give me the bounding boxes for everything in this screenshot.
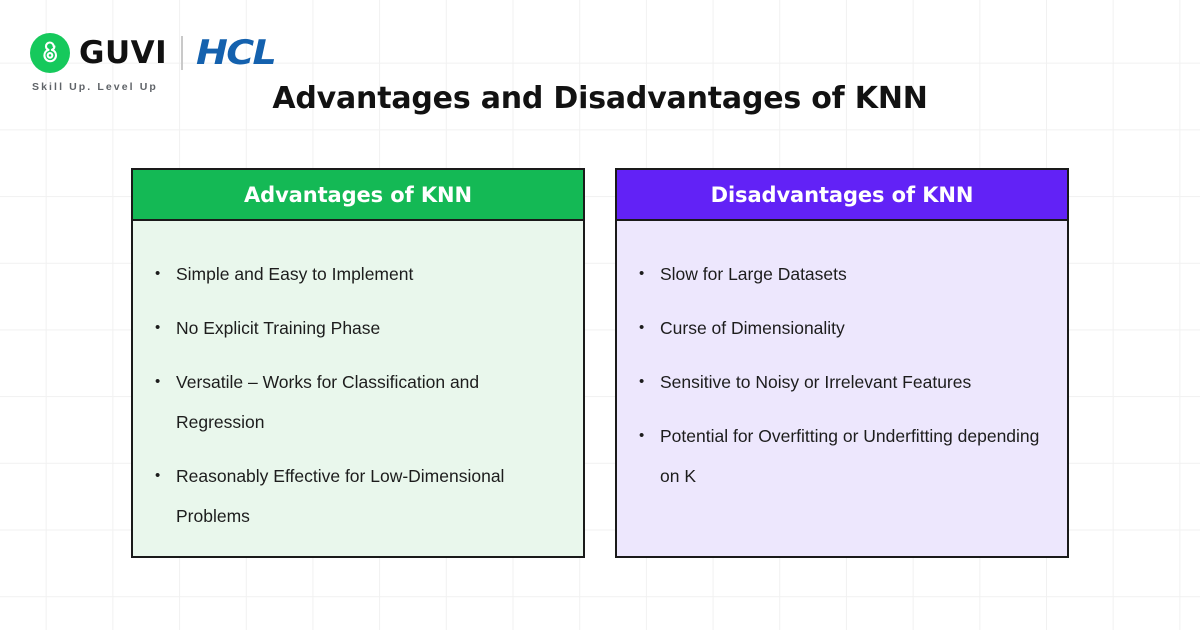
list-item: Reasonably Effective for Low-Dimensional… [149,456,567,536]
list-item: Slow for Large Datasets [633,254,1051,294]
disadvantages-card-body: Slow for Large Datasets Curse of Dimensi… [617,221,1067,556]
list-item: No Explicit Training Phase [149,308,567,348]
disadvantages-list: Slow for Large Datasets Curse of Dimensi… [633,254,1051,496]
list-item: Sensitive to Noisy or Irrelevant Feature… [633,362,1051,402]
guvi-circle-g-icon [30,33,70,73]
list-item: Simple and Easy to Implement [149,254,567,294]
list-item: Curse of Dimensionality [633,308,1051,348]
advantages-list: Simple and Easy to Implement No Explicit… [149,254,567,536]
hcl-wordmark: HCL [196,36,275,70]
brand-divider [181,36,183,70]
guvi-wordmark: GUVI [79,38,167,69]
cards-container: Advantages of KNN Simple and Easy to Imp… [131,168,1069,558]
advantages-card: Advantages of KNN Simple and Easy to Imp… [131,168,585,558]
page-title: Advantages and Disadvantages of KNN [0,81,1200,116]
disadvantages-card-header: Disadvantages of KNN [617,170,1067,221]
advantages-card-header: Advantages of KNN [133,170,583,221]
brand-logo-row: GUVI HCL [30,32,267,74]
advantages-card-body: Simple and Easy to Implement No Explicit… [133,221,583,556]
disadvantages-card: Disadvantages of KNN Slow for Large Data… [615,168,1069,558]
list-item: Versatile – Works for Classification and… [149,362,567,442]
list-item: Potential for Overfitting or Underfittin… [633,416,1051,496]
slide-canvas: GUVI HCL Skill Up. Level Up Advantages a… [0,0,1200,630]
